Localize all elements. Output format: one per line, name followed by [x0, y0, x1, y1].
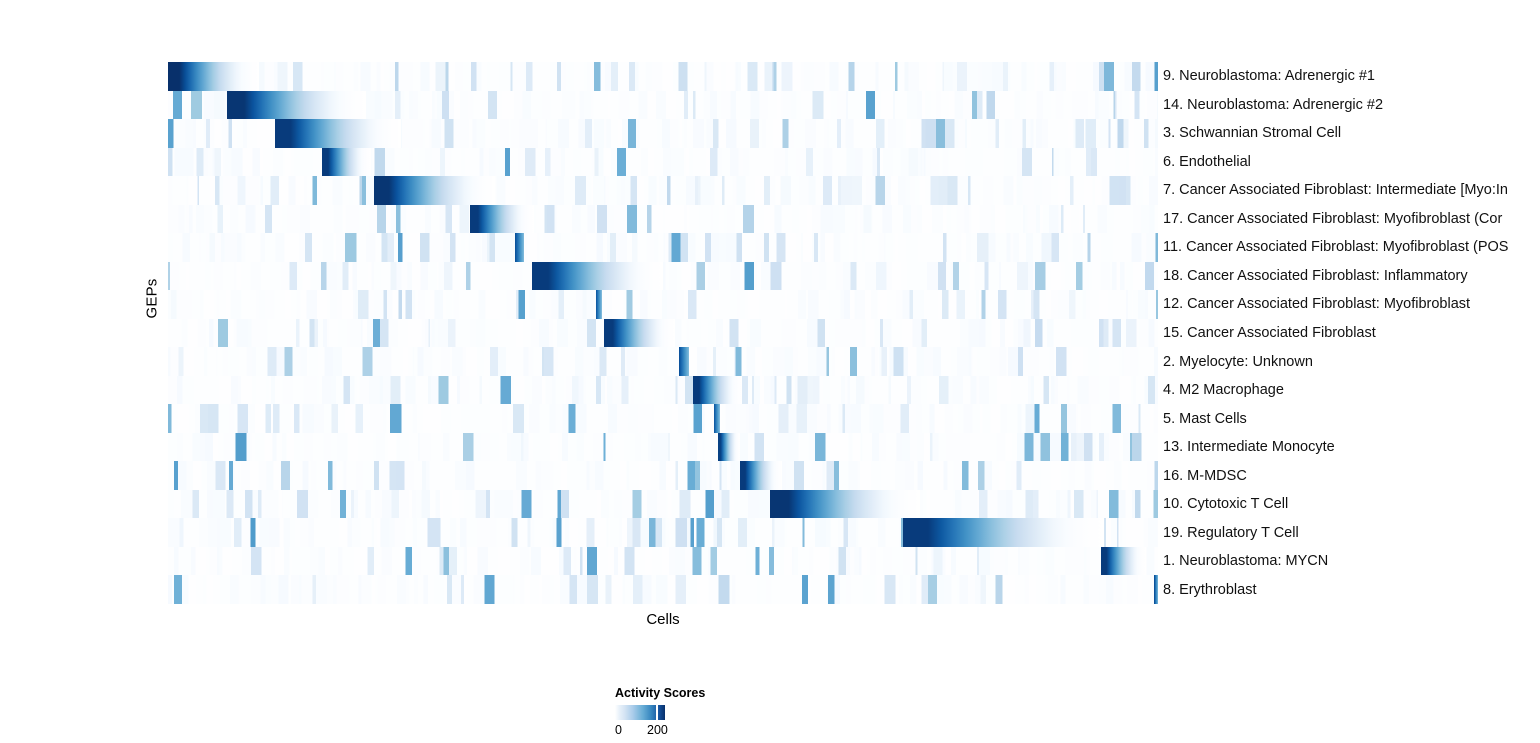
heatmap-row	[168, 433, 1158, 462]
heatmap-row	[168, 404, 1158, 433]
heatmap-row	[168, 205, 1158, 234]
heatmap-row-noise	[168, 262, 1158, 291]
heatmap-row-noise	[168, 376, 1158, 405]
heatmap-activity-block	[515, 233, 525, 262]
row-label-5: 7. Cancer Associated Fibroblast: Interme…	[1163, 183, 1508, 198]
heatmap-activity-block	[1154, 575, 1158, 604]
heatmap-row	[168, 233, 1158, 262]
heatmap-row	[168, 148, 1158, 177]
colorbar-legend: Activity Scores 0 200	[600, 686, 780, 743]
y-axis-title: GEPs	[144, 279, 161, 319]
heatmap-plot-area	[168, 62, 1158, 604]
heatmap-row-noise	[168, 205, 1158, 234]
heatmap-row-noise	[168, 176, 1158, 205]
heatmap-activity-block	[168, 62, 259, 91]
heatmap-activity-block	[718, 433, 740, 462]
row-label-9: 12. Cancer Associated Fibroblast: Myofib…	[1163, 297, 1470, 312]
row-label-16: 10. Cytotoxic T Cell	[1163, 497, 1288, 512]
heatmap-row	[168, 176, 1158, 205]
heatmap-row	[168, 262, 1158, 291]
heatmap-row-noise	[168, 461, 1158, 490]
row-label-18: 1. Neuroblastoma: MYCN	[1163, 554, 1328, 569]
heatmap-activity-block	[322, 148, 371, 177]
heatmap-row	[168, 376, 1158, 405]
heatmap-row	[168, 119, 1158, 148]
heatmap-row-noise	[168, 404, 1158, 433]
heatmap-row-noise	[168, 490, 1158, 519]
row-label-17: 19. Regulatory T Cell	[1163, 526, 1299, 541]
heatmap-row	[168, 518, 1158, 547]
heatmap-row	[168, 461, 1158, 490]
row-label-13: 5. Mast Cells	[1163, 412, 1247, 427]
heatmap-activity-block	[770, 490, 920, 519]
heatmap-row-noise	[168, 148, 1158, 177]
heatmap-activity-block	[679, 347, 689, 376]
heatmap-activity-block	[1101, 547, 1147, 576]
row-label-10: 15. Cancer Associated Fibroblast	[1163, 326, 1376, 341]
row-label-7: 11. Cancer Associated Fibroblast: Myofib…	[1163, 240, 1508, 255]
gep-activity-heatmap-figure: GEPs 9. Neuroblastoma: Adrenergic #114. …	[0, 0, 1540, 743]
colorbar-tick-label-max: 200	[647, 723, 668, 737]
heatmap-activity-block	[604, 319, 675, 348]
heatmap-activity-block	[374, 176, 495, 205]
heatmap-activity-block	[596, 290, 602, 319]
heatmap-row	[168, 319, 1158, 348]
row-label-14: 13. Intermediate Monocyte	[1163, 440, 1335, 455]
row-label-11: 2. Myelocyte: Unknown	[1163, 355, 1313, 370]
x-axis-title: Cells	[168, 611, 1158, 628]
heatmap-row-label-list: 9. Neuroblastoma: Adrenergic #114. Neuro…	[1163, 62, 1540, 604]
heatmap-activity-block	[714, 404, 720, 433]
row-label-3: 3. Schwannian Stromal Cell	[1163, 126, 1341, 141]
heatmap-row-noise	[168, 547, 1158, 576]
heatmap-row-noise	[168, 575, 1158, 604]
heatmap-activity-block	[470, 205, 534, 234]
heatmap-row	[168, 490, 1158, 519]
heatmap-activity-block	[275, 119, 401, 148]
row-label-15: 16. M-MDSC	[1163, 469, 1247, 484]
heatmap-activity-block	[532, 262, 663, 291]
colorbar-title: Activity Scores	[615, 686, 705, 700]
heatmap-row-noise	[168, 347, 1158, 376]
heatmap-activity-block	[903, 518, 1104, 547]
heatmap-row	[168, 290, 1158, 319]
row-label-1: 9. Neuroblastoma: Adrenergic #1	[1163, 69, 1375, 84]
heatmap-row-noise	[168, 290, 1158, 319]
row-label-4: 6. Endothelial	[1163, 155, 1251, 170]
row-label-12: 4. M2 Macrophage	[1163, 383, 1284, 398]
heatmap-activity-block	[227, 91, 366, 120]
heatmap-row	[168, 91, 1158, 120]
heatmap-row-noise	[168, 233, 1158, 262]
heatmap-row	[168, 62, 1158, 91]
heatmap-activity-block	[693, 376, 743, 405]
row-label-19: 8. Erythroblast	[1163, 583, 1257, 598]
heatmap-activity-block	[740, 461, 782, 490]
heatmap-row	[168, 547, 1158, 576]
row-label-8: 18. Cancer Associated Fibroblast: Inflam…	[1163, 269, 1468, 284]
row-label-6: 17. Cancer Associated Fibroblast: Myofib…	[1163, 212, 1502, 227]
heatmap-row-noise	[168, 62, 1158, 91]
heatmap-row	[168, 575, 1158, 604]
heatmap-row-noise	[168, 433, 1158, 462]
colorbar-tick-label-min: 0	[615, 723, 622, 737]
row-label-2: 14. Neuroblastoma: Adrenergic #2	[1163, 98, 1383, 113]
colorbar-tick-mark	[656, 703, 658, 722]
heatmap-row	[168, 347, 1158, 376]
